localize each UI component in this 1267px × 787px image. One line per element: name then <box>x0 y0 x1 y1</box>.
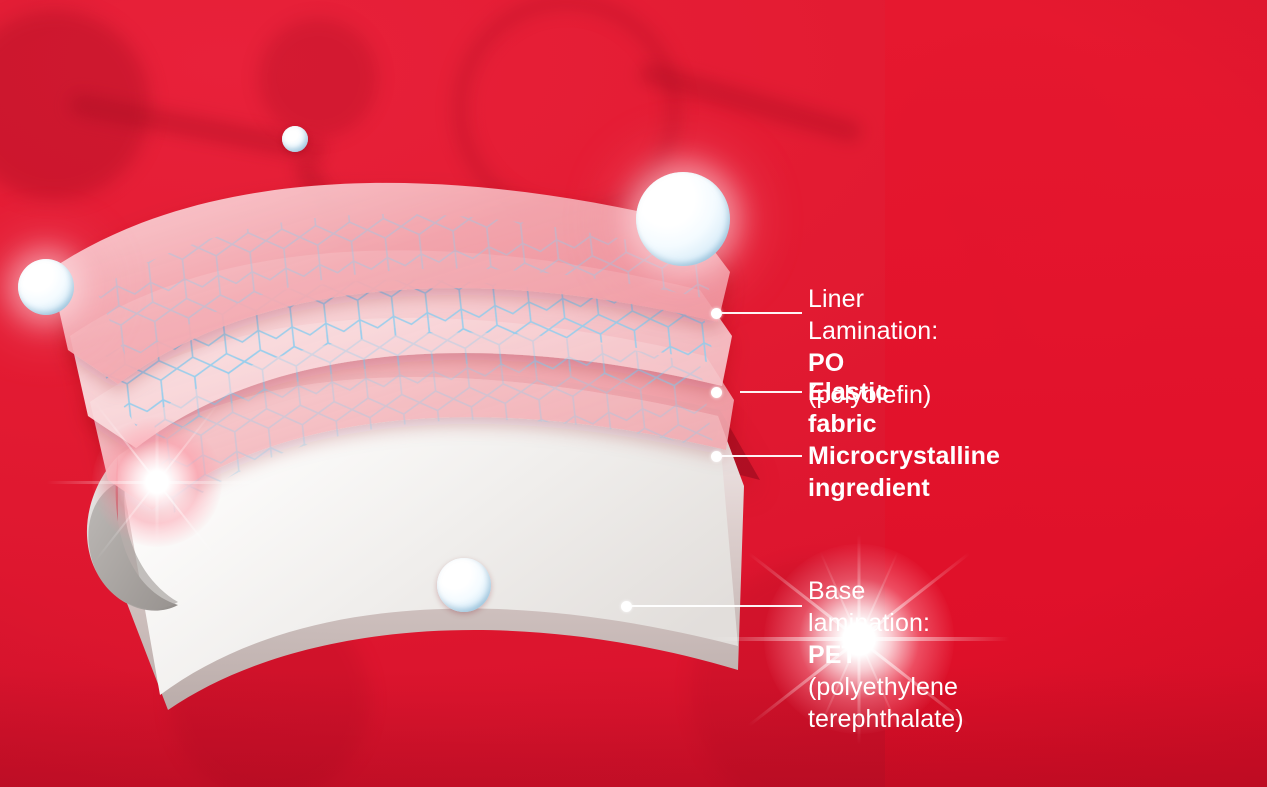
callout-dot-base-lamination <box>621 601 632 612</box>
callout-line-base-lamination <box>632 605 802 607</box>
callout-base-bold: PET <box>808 641 857 669</box>
callout-microcrystalline-bold: Microcrystalline ingredient <box>808 442 1000 502</box>
droplet-small-top <box>282 126 308 152</box>
callout-base-line1: Base lamination: <box>808 575 964 639</box>
callout-text-base-lamination: Base lamination: PET (polyethylene terep… <box>808 575 964 735</box>
droplet-large-top <box>636 172 730 266</box>
callout-text-elastic-fabric: Elastic fabric <box>808 376 889 440</box>
callout-text-microcrystalline: Microcrystalline ingredient <box>808 440 1000 504</box>
infographic-canvas: Liner Lamination: PO (polyolefin) Elasti… <box>0 0 1267 787</box>
droplet-on-sheet <box>437 558 491 612</box>
callout-line-elastic-fabric <box>740 391 802 393</box>
callout-dot-elastic-fabric <box>711 387 722 398</box>
callout-elastic-bold: Elastic fabric <box>808 378 889 438</box>
callout-line-microcrystalline <box>722 455 802 457</box>
callout-dot-liner-lamination <box>711 308 722 319</box>
droplet-left-edge <box>18 259 74 315</box>
callout-dot-microcrystalline <box>711 451 722 462</box>
callout-liner-bold: PO <box>808 349 844 377</box>
callout-liner-line1: Liner Lamination: <box>808 283 938 347</box>
callout-line-liner-lamination <box>722 312 802 314</box>
callout-base-rest: (polyethylene terephthalate) <box>808 673 964 733</box>
